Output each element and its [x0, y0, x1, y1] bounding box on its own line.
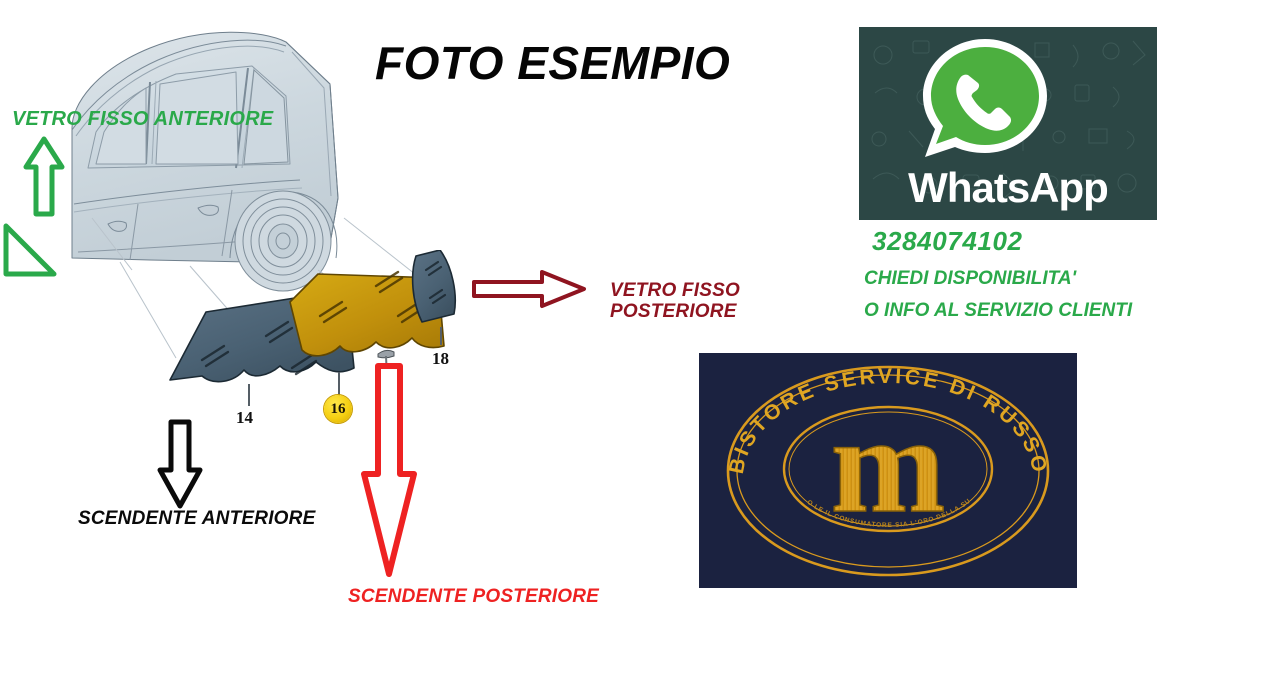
part-number-18: 18 — [432, 349, 449, 369]
red-down-arrow-icon — [358, 362, 418, 580]
whatsapp-logo-icon — [915, 37, 1055, 166]
company-logo: MRICAMBISTORE SERVICE DI RUSSO MARCO SE … — [699, 353, 1077, 588]
whatsapp-cta-line1: CHIEDI DISPONIBILITA' — [864, 268, 1076, 290]
logo-monogram: m — [831, 388, 946, 541]
label-scendente-anteriore: SCENDENTE ANTERIORE — [78, 508, 315, 529]
leader-line-14 — [248, 384, 250, 406]
black-down-arrow-icon — [155, 418, 205, 510]
label-vetro-fisso-anteriore: VETRO FISSO ANTERIORE — [12, 108, 273, 130]
green-triangle-icon — [2, 222, 58, 280]
label-scendente-posteriore: SCENDENTE POSTERIORE — [348, 586, 599, 607]
green-up-arrow-icon — [22, 136, 66, 218]
whatsapp-wordmark: WhatsApp — [859, 164, 1157, 212]
poster-canvas: 14 16 17 18 FOTO ESEMPIO VETRO FISSO ANT… — [0, 0, 1264, 678]
leader-line-16 — [338, 372, 340, 396]
leader-line-18 — [440, 327, 442, 345]
label-vetro-fisso-posteriore-line2: POSTERIORE — [610, 301, 740, 322]
dark-red-right-arrow-icon — [470, 268, 588, 310]
page-title: FOTO ESEMPIO — [375, 36, 730, 90]
label-vetro-fisso-posteriore-line1: VETRO FISSO — [610, 280, 740, 301]
part-number-14: 14 — [236, 408, 253, 428]
whatsapp-phone-number[interactable]: 3284074102 — [872, 226, 1023, 257]
svg-text:m: m — [831, 388, 946, 541]
whatsapp-banner: WhatsApp — [859, 27, 1157, 220]
whatsapp-cta-line2: O INFO AL SERVIZIO CLIENTI — [864, 300, 1132, 322]
label-vetro-fisso-posteriore: VETRO FISSO POSTERIORE — [610, 280, 740, 323]
part-badge-16: 16 — [324, 395, 352, 423]
